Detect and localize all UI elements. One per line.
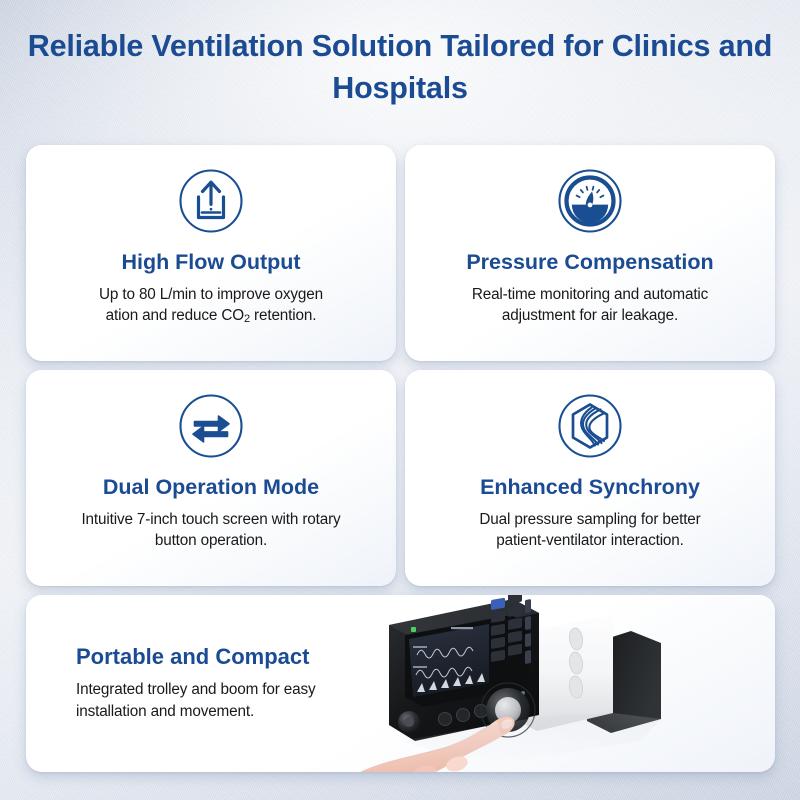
page-title: Reliable Ventilation Solution Tailored f… bbox=[0, 26, 800, 110]
feature-description: Intuitive 7-inch touch screen with rotar… bbox=[57, 509, 364, 552]
wide-desc-line-1: Integrated trolley and boom for easy bbox=[76, 681, 316, 698]
feature-row-3: Portable and Compact Integrated trolley … bbox=[26, 595, 775, 772]
feature-description: Dual pressure sampling for better patien… bbox=[455, 509, 724, 552]
wide-card-title: Portable and Compact bbox=[76, 644, 386, 669]
feature-description: Real-time monitoring and automatic adjus… bbox=[448, 284, 732, 327]
wide-card-description: Integrated trolley and boom for easy ins… bbox=[76, 679, 386, 723]
subscript-two: 2 bbox=[244, 313, 250, 325]
page-header: Reliable Ventilation Solution Tailored f… bbox=[0, 26, 800, 110]
hexagon-swirl-icon bbox=[555, 391, 625, 461]
feature-card-enhanced-synchrony[interactable]: Enhanced Synchrony Dual pressure samplin… bbox=[405, 370, 775, 586]
feature-desc-line-2: patient-ventilator interaction. bbox=[496, 532, 684, 549]
feature-row-2: Dual Operation Mode Intuitive 7-inch tou… bbox=[26, 370, 775, 586]
feature-card-pressure-compensation[interactable]: Pressure Compensation Real-time monitori… bbox=[405, 145, 775, 361]
upload-tray-icon bbox=[176, 166, 246, 236]
feature-desc-line-2: button operation. bbox=[155, 532, 267, 549]
feature-desc-line-1: Real-time monitoring and automatic bbox=[472, 286, 708, 303]
wide-desc-line-2: installation and movement. bbox=[76, 703, 254, 720]
feature-desc-line-2-post: retention. bbox=[250, 307, 316, 324]
feature-desc-line-2-pre: ation and reduce CO bbox=[106, 307, 244, 324]
feature-grid: High Flow Output Up to 80 L/min to impro… bbox=[26, 145, 775, 781]
feature-card-high-flow-output[interactable]: High Flow Output Up to 80 L/min to impro… bbox=[26, 145, 396, 361]
infographic-page: Reliable Ventilation Solution Tailored f… bbox=[0, 0, 800, 800]
pressure-gauge-icon bbox=[555, 166, 625, 236]
feature-desc-line-2: adjustment for air leakage. bbox=[502, 307, 678, 324]
wide-card-text: Portable and Compact Integrated trolley … bbox=[26, 644, 386, 724]
feature-desc-line-1: Dual pressure sampling for better bbox=[479, 511, 700, 528]
bidirectional-arrows-icon bbox=[176, 391, 246, 461]
feature-row-1: High Flow Output Up to 80 L/min to impro… bbox=[26, 145, 775, 361]
feature-desc-line-1: Intuitive 7-inch touch screen with rotar… bbox=[81, 511, 340, 528]
feature-desc-line-1: Up to 80 L/min to improve oxygen bbox=[99, 286, 323, 303]
feature-title: Pressure Compensation bbox=[466, 250, 713, 275]
feature-title: Dual Operation Mode bbox=[103, 475, 319, 500]
feature-card-dual-operation-mode[interactable]: Dual Operation Mode Intuitive 7-inch tou… bbox=[26, 370, 396, 586]
feature-card-portable-and-compact[interactable]: Portable and Compact Integrated trolley … bbox=[26, 595, 775, 772]
feature-description: Up to 80 L/min to improve oxygen ation a… bbox=[75, 284, 347, 327]
ventilator-product-image bbox=[361, 595, 775, 772]
feature-title: High Flow Output bbox=[121, 250, 300, 275]
feature-title: Enhanced Synchrony bbox=[480, 475, 700, 500]
